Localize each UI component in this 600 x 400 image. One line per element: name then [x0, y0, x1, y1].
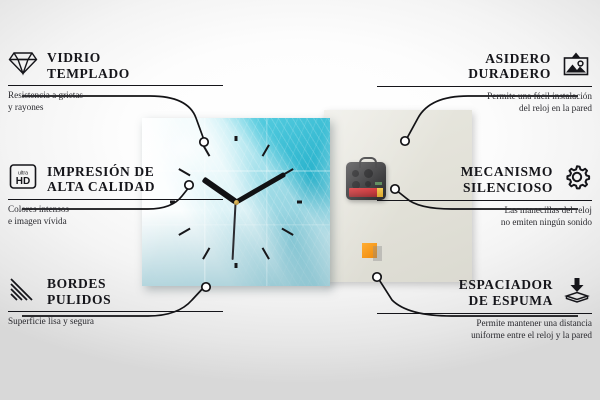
hour-tick — [202, 144, 210, 156]
feature-desc-line2: no emiten ningún sonido — [501, 217, 592, 227]
foam-spacer-pad — [362, 243, 377, 258]
feature-desc-line1: Permite una fácil instalación — [487, 91, 592, 101]
feature-title-line1: IMPRESIÓN DE — [47, 164, 154, 179]
feature-desc-line1: Las manecillas del reloj — [504, 205, 592, 215]
feature-mecanismo-silencioso: MECANISMO SILENCIOSO Las manecillas del … — [377, 163, 592, 228]
divider — [377, 313, 592, 314]
feature-title-line1: VIDRIO — [47, 50, 101, 65]
feature-desc-line2: y rayones — [8, 102, 43, 112]
hour-tick — [235, 263, 238, 268]
feature-title-line2: DE ESPUMA — [468, 293, 553, 308]
movement-detail — [364, 169, 373, 178]
feature-title-line1: ESPACIADOR — [459, 277, 553, 292]
divider — [8, 311, 223, 312]
center-pin — [234, 200, 239, 205]
feature-title-line1: BORDES — [47, 276, 106, 291]
diamond-icon — [8, 50, 38, 81]
movement-detail — [352, 170, 359, 177]
gear-icon — [562, 163, 592, 196]
feature-title-line1: MECANISMO — [461, 164, 553, 179]
picture-hanger-icon — [560, 50, 592, 82]
feature-title-line2: DURADERO — [468, 66, 551, 81]
feature-title-line2: SILENCIOSO — [463, 180, 553, 195]
divider — [8, 85, 223, 86]
feature-desc-line1: Colores intensos — [8, 204, 69, 214]
movement-detail — [365, 181, 371, 187]
feature-desc-line2: e imagen vívida — [8, 216, 67, 226]
feature-title-line1: ASIDERO — [485, 51, 551, 66]
divider — [8, 199, 223, 200]
feature-title-line2: TEMPLADO — [47, 66, 130, 81]
hour-tick — [262, 144, 270, 156]
feature-asidero-duradero: ASIDERO DURADERO Permite una fácil insta… — [377, 50, 592, 114]
foam-spacer-icon — [562, 276, 592, 309]
divider — [377, 200, 592, 201]
hanger-loop-icon — [359, 157, 377, 168]
feature-bordes-pulidos: BORDES PULIDOS Superficie lisa y segura — [8, 276, 223, 328]
feature-impresion-alta-calidad: ultra HD IMPRESIÓN DE ALTA CALIDAD Color… — [8, 163, 223, 227]
feature-desc-line2: uniforme entre el reloj y la pared — [471, 330, 592, 340]
feature-title-line2: ALTA CALIDAD — [47, 179, 155, 194]
hour-tick — [297, 201, 302, 204]
divider — [377, 86, 592, 87]
feature-desc-line2: del reloj en la pared — [519, 103, 592, 113]
feature-vidrio-templado: VIDRIO TEMPLADO Resistencia a grietas y … — [8, 50, 223, 113]
movement-detail — [352, 181, 360, 189]
feature-desc-line1: Superficie lisa y segura — [8, 316, 94, 326]
hd-badge-big-label: HD — [16, 176, 30, 187]
feature-title-line2: PULIDOS — [47, 292, 111, 307]
hour-tick — [202, 247, 210, 259]
feature-desc-line1: Resistencia a grietas — [8, 90, 83, 100]
feature-espaciador-de-espuma: ESPACIADOR DE ESPUMA Permite mantener un… — [377, 276, 592, 341]
hour-tick — [235, 136, 238, 141]
hour-tick — [281, 228, 293, 236]
polished-edges-icon — [8, 276, 38, 307]
feature-desc-line1: Permite mantener una distancia — [476, 318, 592, 328]
hour-tick — [178, 228, 190, 236]
hour-tick — [262, 247, 270, 259]
ultra-hd-badge-icon: ultra HD — [8, 163, 38, 195]
infographic-canvas: VIDRIO TEMPLADO Resistencia a grietas y … — [0, 0, 600, 400]
